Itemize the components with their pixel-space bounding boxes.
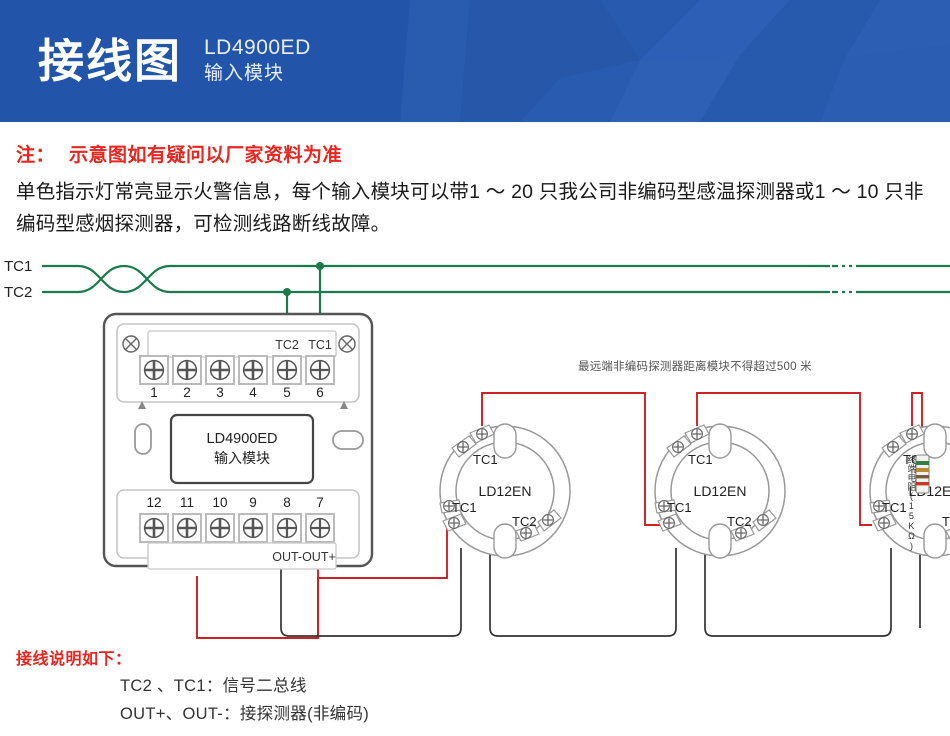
detector-label-tc2: TC2 xyxy=(512,514,537,529)
led-indicator-left xyxy=(135,424,151,454)
detector-base[interactable]: LD12EN TC1 TC1 TC2 xyxy=(440,424,570,558)
svg-text:8: 8 xyxy=(283,495,291,510)
header-subtitle-block: LD4900ED 输入模块 xyxy=(204,35,311,86)
module-out-marks: OUT-OUT+ xyxy=(272,550,336,564)
bus-label-tc2: TC2 xyxy=(4,284,32,301)
svg-text:1: 1 xyxy=(150,385,158,400)
svg-text:10: 10 xyxy=(212,495,227,510)
svg-text:6: 6 xyxy=(316,385,324,400)
module-model-name: LD4900ED xyxy=(207,431,278,447)
detector-label-tc2: TC2 xyxy=(727,514,752,529)
wiring-diagram-svg: TC1 TC2 xyxy=(0,248,950,648)
header-type: 输入模块 xyxy=(204,62,311,86)
description-text: 单色指示灯常亮显示火警信息，每个输入模块可以带1 ～ 20 只我公司非编码型感温… xyxy=(16,176,936,240)
resistor-label: 终端电阻(15KΩ) xyxy=(906,455,915,551)
wiring-diagram: TC1 TC2 xyxy=(0,248,950,648)
page-header: 接线图 LD4900ED 输入模块 xyxy=(0,0,950,122)
detector-base[interactable]: LD12EN TC1 TC1 TC2 xyxy=(655,424,785,558)
svg-text:5: 5 xyxy=(283,385,291,400)
svg-text:TC1: TC1 xyxy=(308,338,332,352)
wire-negative-group xyxy=(281,498,920,636)
page-title: 接线图 xyxy=(38,38,182,84)
module-label-box xyxy=(171,415,313,483)
detector-label-tc2: TC2 xyxy=(942,514,950,529)
input-module[interactable]: 123 456 TC2TC1 LD4900ED 输入模块 121110 987 xyxy=(104,314,372,569)
detector-label-tc1-left: TC1 xyxy=(667,500,692,515)
svg-text:2: 2 xyxy=(183,385,191,400)
svg-text:9: 9 xyxy=(249,495,257,510)
warning-text: 示意图如有疑问以厂家资料为准 xyxy=(69,145,342,166)
bus-junction-tc2 xyxy=(283,288,291,296)
detector-label-tc1-left: TC1 xyxy=(882,500,907,515)
bus-label-tc1: TC1 xyxy=(4,258,32,275)
warning-label: 注： xyxy=(16,145,55,166)
legend-line-tc: TC2 、TC1：信号二总线 xyxy=(120,672,307,696)
detector-model-name: LD12EN xyxy=(694,483,747,499)
svg-text:4: 4 xyxy=(249,385,257,400)
svg-text:11: 11 xyxy=(180,495,194,510)
header-model: LD4900ED xyxy=(204,35,311,62)
resistor-body xyxy=(916,455,929,493)
detector-label-tc1-top: TC1 xyxy=(688,452,713,467)
detector-label-tc1-left: TC1 xyxy=(452,500,477,515)
distance-note: 最远端非编码探测器距离模块不得超过500 米 xyxy=(578,358,812,374)
svg-text:7: 7 xyxy=(316,495,324,510)
warning-note: 注：示意图如有疑问以厂家资料为准 xyxy=(16,140,342,167)
detector-label-tc1-top: TC1 xyxy=(473,452,498,467)
svg-text:TC2: TC2 xyxy=(275,338,299,352)
legend-line-out: OUT+、OUT-：接探测器(非编码) xyxy=(120,700,369,724)
svg-text:3: 3 xyxy=(216,385,224,400)
detector-slot-bottom xyxy=(924,524,946,558)
detector-slot-bottom xyxy=(494,524,516,558)
resistor-band-4 xyxy=(916,482,929,485)
detector-model-name: LD12EN xyxy=(479,483,532,499)
end-of-line-resistor xyxy=(916,455,929,493)
resistor-band-3 xyxy=(916,475,929,478)
resistor-band-2 xyxy=(916,468,929,472)
module-type-name: 输入模块 xyxy=(214,450,270,466)
svg-text:12: 12 xyxy=(146,495,161,510)
legend-title: 接线说明如下： xyxy=(16,645,132,669)
resistor-band-1 xyxy=(916,461,929,465)
detector-slot-bottom xyxy=(709,524,731,558)
bus-junction-tc1 xyxy=(316,262,324,270)
led-indicator-right xyxy=(333,431,363,449)
